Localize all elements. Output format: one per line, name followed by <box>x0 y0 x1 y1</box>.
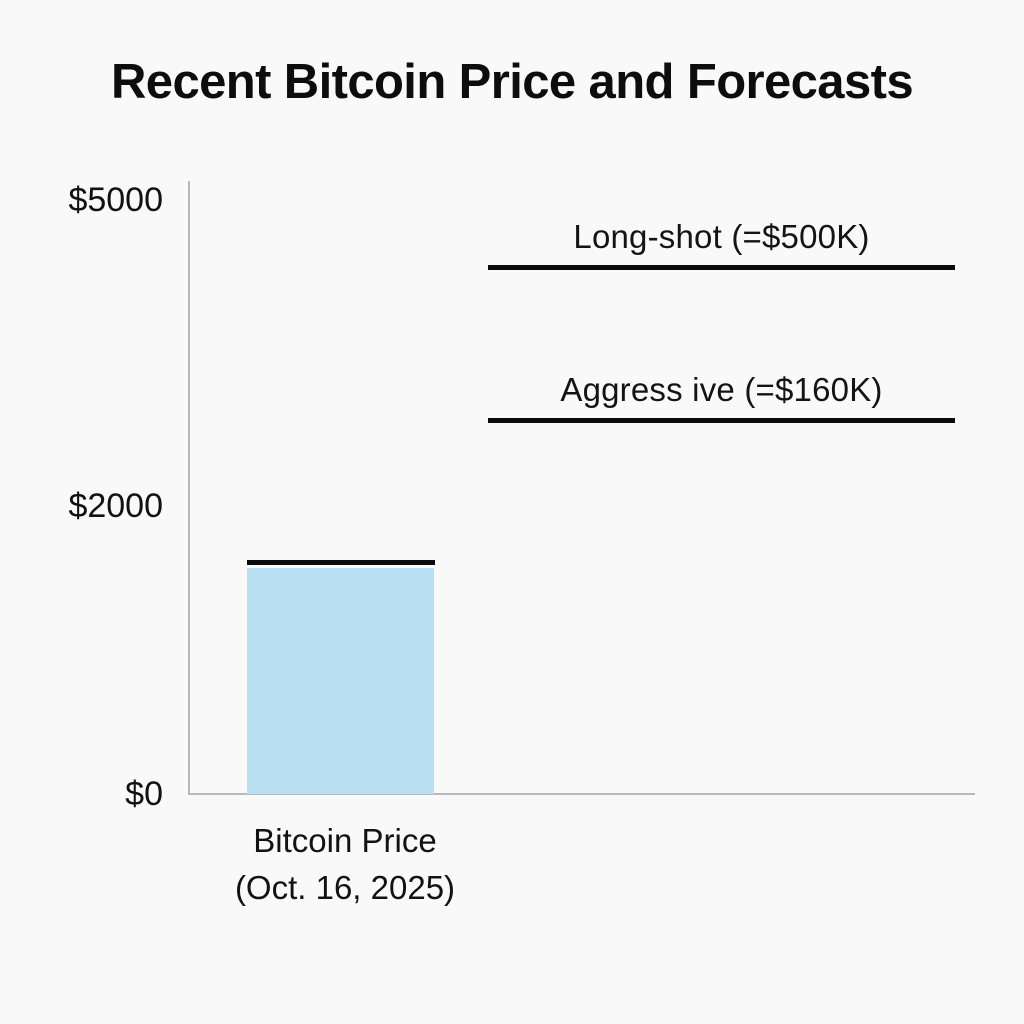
forecast-long-shot: Long-shot (=$500K) <box>488 218 955 270</box>
forecast-long-shot-label: Long-shot (=$500K) <box>488 218 955 256</box>
bar-bitcoin-price[interactable] <box>247 568 434 794</box>
y-axis-line <box>188 181 190 795</box>
x-category-label: Bitcoin Price (Oct. 16, 2025) <box>185 818 505 912</box>
bar-chart: Recent Bitcoin Price and Forecasts $5000… <box>0 0 1024 1024</box>
y-tick-label-2000: $2000 <box>0 487 163 526</box>
forecast-aggressive: Aggress ive (=$160K) <box>488 371 955 423</box>
forecast-long-shot-rule <box>488 265 955 270</box>
chart-title: Recent Bitcoin Price and Forecasts <box>0 54 1024 110</box>
x-category-label-line2: (Oct. 16, 2025) <box>185 865 505 912</box>
y-tick-label-5000: $5000 <box>0 181 163 220</box>
bar-cap-line <box>247 560 435 565</box>
forecast-aggressive-label: Aggress ive (=$160K) <box>488 371 955 409</box>
y-tick-label-0: $0 <box>0 775 163 814</box>
x-category-label-line1: Bitcoin Price <box>253 822 436 859</box>
forecast-aggressive-rule <box>488 418 955 423</box>
